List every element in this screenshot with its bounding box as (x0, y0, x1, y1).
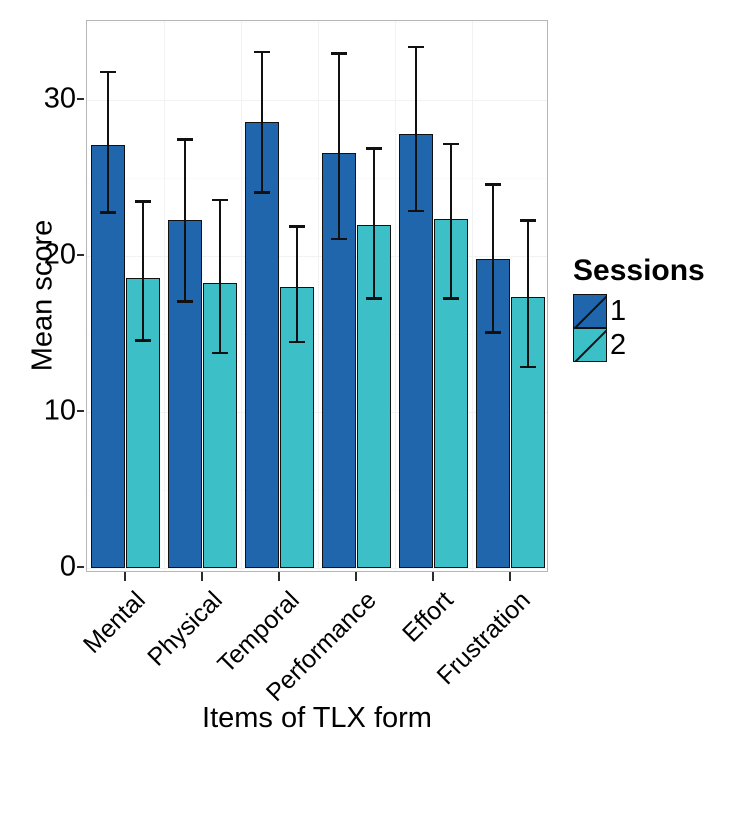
error-bar-stem (450, 144, 452, 298)
error-bar-stem (107, 72, 109, 212)
x-tick-mark (201, 572, 203, 581)
error-bar-cap (100, 211, 116, 214)
legend-key-swatch (573, 328, 607, 362)
y-tick-mark (77, 98, 84, 100)
error-bar-stem (338, 53, 340, 239)
legend-item[interactable]: 1 (573, 294, 705, 328)
y-tick-mark (77, 566, 84, 568)
error-bar-cap (289, 225, 305, 228)
y-tick-label: 30 (16, 85, 76, 114)
chart-figure: Mean score 0102030 MentalPhysicalTempora… (0, 0, 747, 747)
error-bar-cap (485, 183, 501, 186)
y-axis-tick-labels: 0102030 (8, 0, 76, 747)
error-bar-cap (408, 46, 424, 49)
gridline-major (87, 256, 547, 257)
x-tick-mark (432, 572, 434, 581)
plot-panel (86, 20, 548, 572)
gridline-major (87, 568, 547, 569)
error-bar-cap (366, 147, 382, 150)
error-bar-cap (331, 238, 347, 241)
legend-title: Sessions (573, 256, 705, 286)
legend-item[interactable]: 2 (573, 328, 705, 362)
x-tick-mark (509, 572, 511, 581)
error-bar-stem (142, 201, 144, 340)
error-bar-cap (408, 210, 424, 213)
x-axis-title: Items of TLX form (86, 702, 548, 735)
error-bar-stem (184, 139, 186, 301)
error-bar-stem (527, 220, 529, 367)
gridline-major (87, 100, 547, 101)
gridline-vertical (164, 21, 165, 571)
error-bar-stem (219, 200, 221, 353)
error-bar-cap (254, 51, 270, 54)
gridline-minor (87, 22, 547, 23)
error-bar-cap (289, 341, 305, 344)
y-tick-label: 20 (16, 241, 76, 270)
gridline-vertical (318, 21, 319, 571)
error-bar-cap (212, 352, 228, 355)
x-tick-mark (124, 572, 126, 581)
legend-item-label: 2 (610, 331, 626, 360)
error-bar-cap (177, 300, 193, 303)
gridline-vertical (395, 21, 396, 571)
error-bar-cap (366, 297, 382, 300)
error-bar-cap (135, 339, 151, 342)
gridline-vertical (472, 21, 473, 571)
error-bar-cap (520, 366, 536, 369)
y-tick-mark (77, 254, 84, 256)
y-tick-mark (77, 410, 84, 412)
gridline-vertical (241, 21, 242, 571)
error-bar-cap (254, 191, 270, 194)
x-tick-mark (278, 572, 280, 581)
legend-items: 12 (573, 294, 705, 362)
error-bar-cap (443, 143, 459, 146)
error-bar-cap (135, 200, 151, 203)
error-bar-stem (492, 184, 494, 332)
gridline-minor (87, 178, 547, 179)
error-bar-cap (212, 199, 228, 202)
error-bar-cap (485, 331, 501, 334)
x-tick-mark (355, 572, 357, 581)
y-tick-label: 0 (16, 553, 76, 582)
error-bar-cap (100, 71, 116, 74)
error-bar-stem (373, 148, 375, 298)
error-bar-stem (415, 47, 417, 211)
y-tick-label: 10 (16, 397, 76, 426)
error-bar-stem (261, 52, 263, 192)
error-bar-cap (177, 138, 193, 141)
legend-key-swatch (573, 294, 607, 328)
legend-item-label: 1 (610, 297, 626, 326)
error-bar-cap (331, 52, 347, 55)
error-bar-stem (296, 226, 298, 341)
error-bar-cap (520, 219, 536, 222)
legend: Sessions 12 (573, 256, 705, 362)
error-bar-cap (443, 297, 459, 300)
